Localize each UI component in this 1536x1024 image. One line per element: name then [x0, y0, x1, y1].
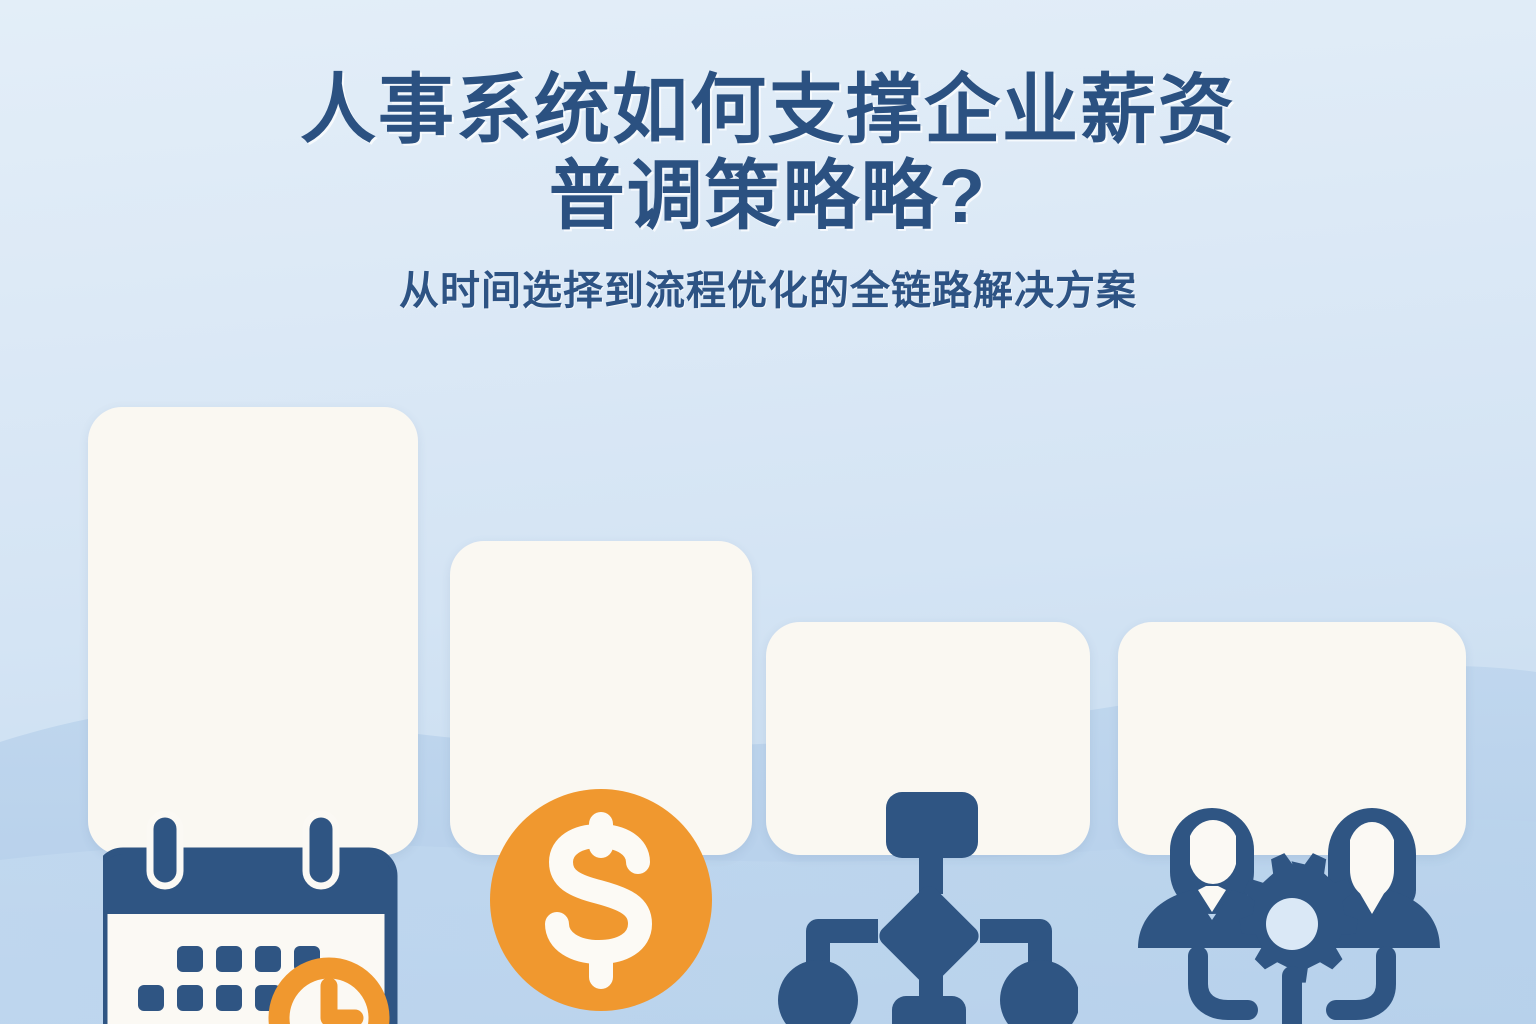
flow-diamond-node — [875, 882, 982, 989]
connector-lines — [1198, 956, 1386, 1010]
connector-stem — [1282, 966, 1302, 1024]
poster-canvas: 人事系统如何支撑企业薪资 普调策略略? 从时间选择到流程优化的全链路解决方案 — [0, 0, 1536, 1024]
flow-right-circle — [1000, 960, 1078, 1024]
gear-icon — [1239, 853, 1357, 983]
feature-card-row: 时间选择 薪资调整 — [0, 390, 1536, 910]
clock-face — [273, 962, 385, 1024]
flow-left-circle — [778, 960, 858, 1024]
feature-card-time-selection[interactable] — [88, 407, 418, 855]
clock-ring — [279, 968, 379, 1024]
calendar-body — [103, 854, 391, 1024]
page-title: 人事系统如何支撑企业薪资 普调策略略? — [0, 68, 1536, 240]
poster-header: 人事系统如何支撑企业薪资 普调策略略? 从时间选择到流程优化的全链路解决方案 — [0, 0, 1536, 316]
flow-stem-top — [919, 854, 943, 894]
calendar-date-dots — [138, 946, 320, 1024]
clock-hands — [329, 986, 355, 1018]
feature-card-process-opt[interactable] — [766, 622, 1090, 855]
feature-card-salary-adjust[interactable] — [450, 541, 752, 855]
calendar-header-band — [103, 854, 391, 914]
flow-stem-bottom — [919, 964, 943, 1004]
feature-card-full-chain[interactable] — [1118, 622, 1466, 855]
page-subtitle: 从时间选择到流程优化的全链路解决方案 — [0, 258, 1536, 316]
flow-branch-right — [980, 919, 1052, 991]
flow-center-square — [892, 996, 966, 1024]
flow-branch-left — [806, 919, 878, 991]
